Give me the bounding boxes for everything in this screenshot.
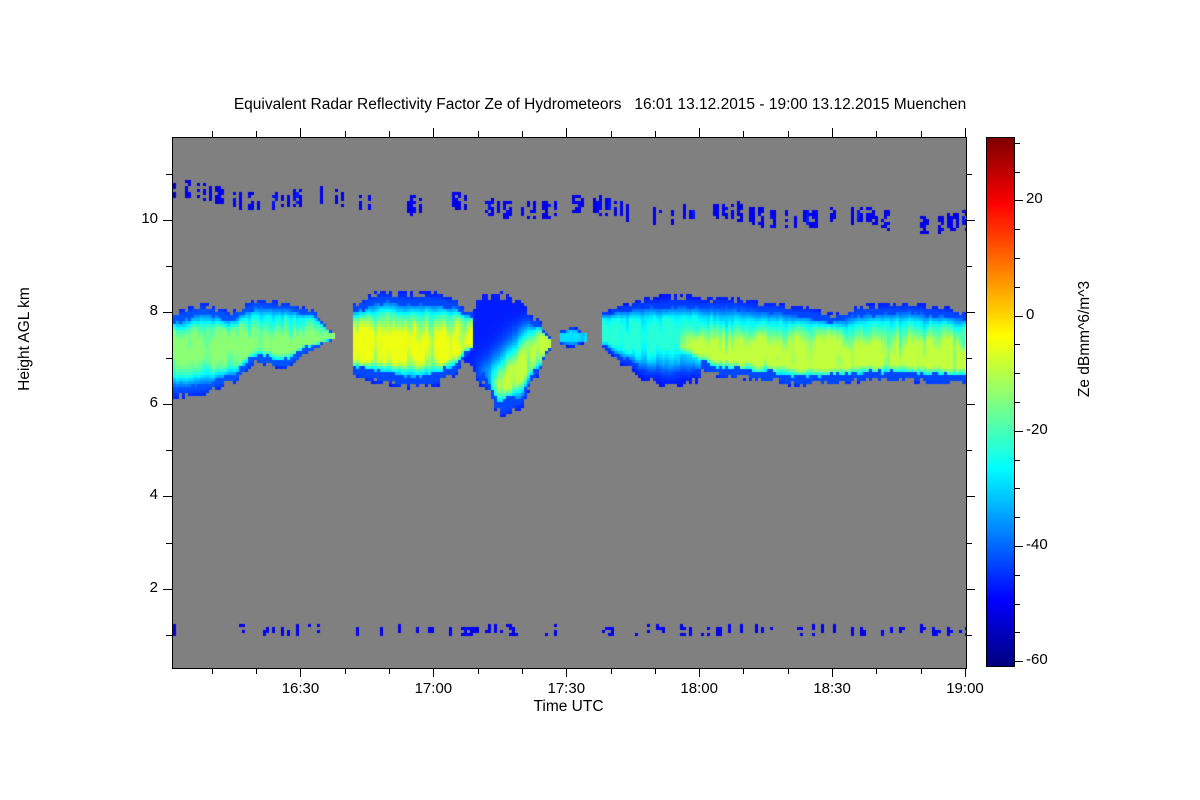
tick-mark	[345, 131, 346, 137]
tick-mark	[1015, 604, 1020, 605]
x-axis-tick-label: 18:30	[802, 680, 862, 697]
tick-mark	[433, 128, 434, 137]
plot-area	[172, 137, 967, 669]
colorbar-tick-label: -20	[1026, 421, 1048, 438]
tick-mark	[566, 668, 567, 677]
x-axis-tick-label: 19:00	[935, 680, 995, 697]
tick-mark	[256, 668, 257, 674]
tick-mark	[522, 668, 523, 674]
tick-mark	[166, 635, 172, 636]
tick-mark	[163, 220, 172, 221]
tick-mark	[1015, 575, 1020, 576]
tick-mark	[1015, 172, 1020, 173]
y-axis-tick-label: 10	[114, 210, 158, 227]
tick-mark	[212, 668, 213, 674]
x-axis-title: Time UTC	[172, 698, 965, 716]
tick-mark	[1015, 517, 1020, 518]
y-axis-tick-label: 4	[114, 486, 158, 503]
colorbar-tick-label: 20	[1026, 190, 1043, 207]
y-axis-tick-label: 6	[114, 394, 158, 411]
tick-mark	[611, 131, 612, 137]
tick-mark	[611, 668, 612, 674]
tick-mark	[655, 131, 656, 137]
tick-mark	[1015, 632, 1020, 633]
tick-mark	[1015, 488, 1020, 489]
tick-mark	[1015, 200, 1023, 201]
colorbar-tick-label: 0	[1026, 306, 1034, 323]
tick-mark	[832, 128, 833, 137]
tick-mark	[966, 635, 972, 636]
tick-mark	[478, 131, 479, 137]
tick-mark	[699, 668, 700, 677]
colorbar-tick-label: -40	[1026, 536, 1048, 553]
tick-mark	[1015, 373, 1020, 374]
tick-mark	[166, 358, 172, 359]
tick-mark	[1015, 287, 1020, 288]
tick-mark	[966, 450, 972, 451]
tick-mark	[655, 668, 656, 674]
tick-mark	[166, 543, 172, 544]
tick-mark	[965, 128, 966, 137]
tick-mark	[522, 131, 523, 137]
tick-mark	[345, 668, 346, 674]
tick-mark	[433, 668, 434, 677]
tick-mark	[256, 131, 257, 137]
x-axis-tick-label: 18:00	[669, 680, 729, 697]
colorbar-tick-label: -60	[1026, 651, 1048, 668]
tick-mark	[163, 589, 172, 590]
tick-mark	[300, 668, 301, 677]
colorbar-title: Ze dBmm^6/m^3	[1076, 209, 1094, 469]
tick-mark	[966, 312, 975, 313]
tick-mark	[1015, 661, 1023, 662]
tick-mark	[212, 131, 213, 137]
tick-mark	[966, 496, 975, 497]
tick-mark	[788, 131, 789, 137]
tick-mark	[566, 128, 567, 137]
tick-mark	[1015, 546, 1023, 547]
tick-mark	[1015, 258, 1020, 259]
tick-mark	[389, 668, 390, 674]
colorbar	[986, 137, 1015, 667]
tick-mark	[166, 450, 172, 451]
x-axis-tick-label: 17:00	[403, 680, 463, 697]
tick-mark	[1015, 460, 1020, 461]
tick-mark	[389, 131, 390, 137]
radar-reflectivity-figure: Equivalent Radar Reflectivity Factor Ze …	[0, 0, 1200, 800]
tick-mark	[166, 266, 172, 267]
tick-mark	[300, 128, 301, 137]
tick-mark	[966, 404, 975, 405]
colorbar-gradient	[986, 137, 1015, 667]
tick-mark	[921, 668, 922, 674]
x-axis-tick-label: 17:30	[536, 680, 596, 697]
tick-mark	[163, 404, 172, 405]
tick-mark	[1015, 316, 1023, 317]
page-title: Equivalent Radar Reflectivity Factor Ze …	[0, 96, 1200, 114]
tick-mark	[966, 266, 972, 267]
tick-mark	[876, 131, 877, 137]
tick-mark	[1015, 431, 1023, 432]
y-axis-title: Height AGL km	[16, 229, 34, 449]
tick-mark	[921, 131, 922, 137]
tick-mark	[1015, 229, 1020, 230]
tick-mark	[743, 668, 744, 674]
tick-mark	[965, 668, 966, 677]
tick-mark	[966, 220, 975, 221]
tick-mark	[966, 589, 975, 590]
y-axis-tick-label: 8	[114, 302, 158, 319]
x-axis-tick-label: 16:30	[270, 680, 330, 697]
tick-mark	[166, 174, 172, 175]
tick-mark	[699, 128, 700, 137]
reflectivity-heatmap	[173, 138, 966, 668]
tick-mark	[966, 174, 972, 175]
tick-mark	[163, 496, 172, 497]
tick-mark	[876, 668, 877, 674]
tick-mark	[966, 358, 972, 359]
tick-mark	[966, 543, 972, 544]
tick-mark	[163, 312, 172, 313]
tick-mark	[743, 131, 744, 137]
y-axis-tick-label: 2	[114, 579, 158, 596]
tick-mark	[788, 668, 789, 674]
tick-mark	[1015, 402, 1020, 403]
tick-mark	[832, 668, 833, 677]
tick-mark	[478, 668, 479, 674]
tick-mark	[1015, 344, 1020, 345]
tick-mark	[1015, 143, 1020, 144]
